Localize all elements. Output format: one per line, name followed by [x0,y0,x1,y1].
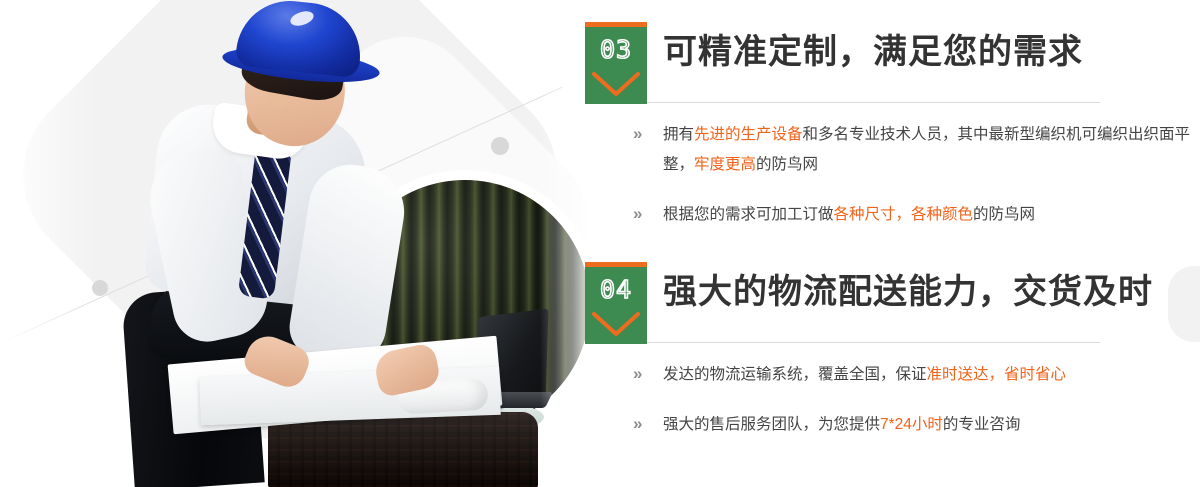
double-chevron-icon: » [633,125,651,143]
list-item: » 强大的售后服务团队，为您提供7*24小时的专业咨询 [631,410,1191,440]
double-chevron-icon: » [633,205,651,223]
badge-number-03: 03 [585,36,647,64]
highlighted-text: 7*24小时 [880,416,943,433]
feature-bullets-03: » 拥有先进的生产设备和多名专业技术人员，其中最新型编织机可编织出织面平整，牢度… [631,120,1191,250]
plain-text: 强大的售后服务团队，为您提供 [663,416,880,433]
plain-text: 拥有 [663,126,694,143]
double-chevron-icon: » [633,365,651,383]
bullet-text: 发达的物流运输系统，覆盖全国，保证准时送达，省时省心 [663,366,1066,383]
badge-03: 03 [585,22,647,104]
feature-content: 03 可精准定制，满足您的需求 » 拥有先进的生产设备和多名专业技术人员，其中最… [585,0,1200,487]
list-item: » 拥有先进的生产设备和多名专业技术人员，其中最新型编织机可编织出织面平整，牢度… [631,120,1191,180]
plain-text: 的防鸟网 [973,206,1035,223]
feature-bullets-04: » 发达的物流运输系统，覆盖全国，保证准时送达，省时省心 » 强大的售后服务团队… [631,360,1191,460]
plain-text: 根据您的需求可加工订做 [663,206,834,223]
wicker-table-base [268,412,538,487]
down-chevron-icon-03 [592,72,640,98]
list-item: » 根据您的需求可加工订做各种尺寸，各种颜色的防鸟网 [631,200,1191,230]
feature-block-03: 03 可精准定制，满足您的需求 » 拥有先进的生产设备和多名专业技术人员，其中最… [585,22,1200,108]
bullet-text: 拥有先进的生产设备和多名专业技术人员，其中最新型编织机可编织出织面平整，牢度更高… [663,126,1190,173]
plain-text: 发达的物流运输系统，覆盖全国，保证 [663,366,927,383]
bullet-text: 根据您的需求可加工订做各种尺寸，各种颜色的防鸟网 [663,206,1035,223]
badge-04: 04 [585,262,647,344]
feature-title-04: 强大的物流配送能力，交货及时 [663,268,1153,316]
feature-title-03: 可精准定制，满足您的需求 [663,28,1083,76]
plain-text: 的防鸟网 [756,156,818,173]
title-underline-03 [647,102,1100,103]
badge-top-bar [585,22,647,27]
highlighted-text: 牢度更高 [694,156,756,173]
plain-text: 的专业咨询 [943,416,1021,433]
feature-header-04: 04 强大的物流配送能力，交货及时 [585,262,1200,348]
title-underline-04 [647,342,1100,343]
down-chevron-icon-04 [592,312,640,338]
feature-header-03: 03 可精准定制，满足您的需求 [585,22,1200,108]
promo-banner: 03 可精准定制，满足您的需求 » 拥有先进的生产设备和多名专业技术人员，其中最… [0,0,1200,487]
highlighted-text: 准时送达，省时省心 [927,366,1067,383]
feature-block-04: 04 强大的物流配送能力，交货及时 » 发达的物流运输系统，覆盖全国，保证准时送… [585,262,1200,348]
highlighted-text: 先进的生产设备 [694,126,803,143]
badge-top-bar [585,262,647,267]
bullet-text: 强大的售后服务团队，为您提供7*24小时的专业咨询 [663,416,1020,433]
badge-number-04: 04 [585,276,647,304]
double-chevron-icon: » [633,415,651,433]
engineer-photo [0,0,600,487]
highlighted-text: 各种尺寸，各种颜色 [834,206,974,223]
list-item: » 发达的物流运输系统，覆盖全国，保证准时送达，省时省心 [631,360,1191,390]
